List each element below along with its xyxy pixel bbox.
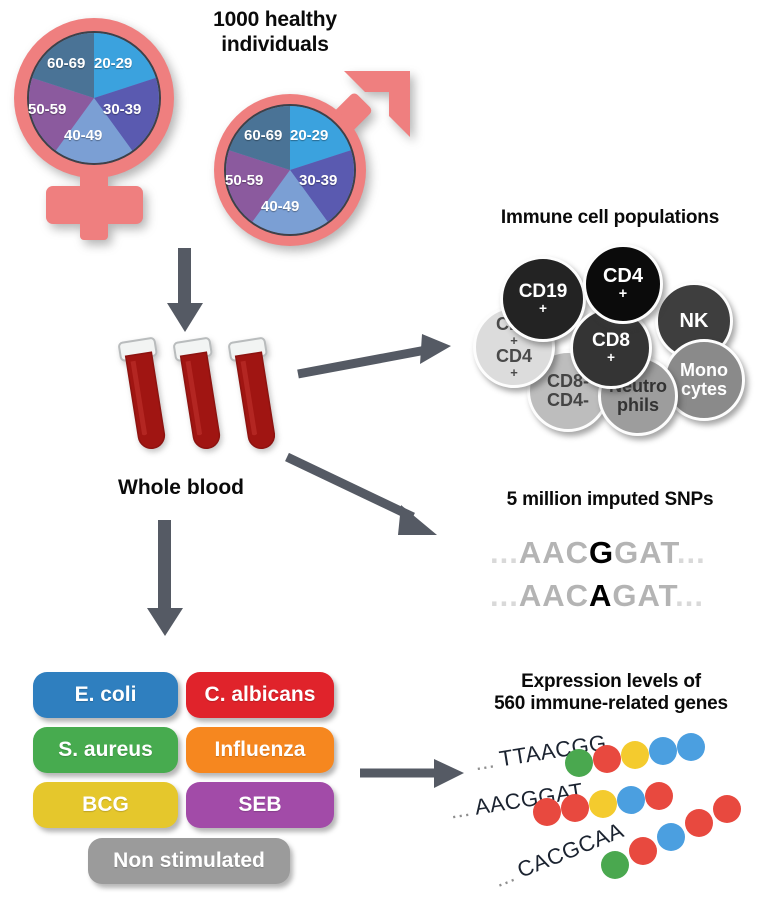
- arrow-cohort-to-blood: [160, 248, 210, 334]
- strand-1-lead: ...: [473, 747, 497, 775]
- gene-bead: [561, 794, 589, 822]
- gene-bead: [533, 798, 561, 826]
- gene-bead: [677, 733, 705, 761]
- female-age-pie: [27, 31, 161, 165]
- gene-bead: [629, 837, 657, 865]
- gene-strands: ... TTAACGG ... AACGGAT ... CACGCAA: [455, 730, 771, 905]
- immune-cell-label: NK: [680, 311, 709, 332]
- immune-cell-label: CD4-: [547, 391, 589, 410]
- immune-cell-cd19[interactable]: CD19+: [500, 256, 586, 342]
- gene-bead: [601, 851, 629, 879]
- genes-title-line1: Expression levels of: [455, 671, 767, 693]
- arrow-down-right-icon: [285, 455, 450, 540]
- immune-cell-label: phils: [617, 396, 659, 415]
- arrow-right-icon: [360, 755, 470, 795]
- genes-title: Expression levels of 560 immune-related …: [455, 671, 767, 716]
- gene-bead: [645, 782, 673, 810]
- snp-prefix-1: ...: [490, 535, 519, 570]
- gene-bead: [565, 749, 593, 777]
- snp-post-2: GAT: [612, 578, 675, 613]
- arrow-stimuli-to-genes: [360, 755, 470, 795]
- arrow-up-right-icon: [296, 330, 456, 380]
- whole-blood-label: Whole blood: [86, 476, 276, 500]
- pie-slices-male: [226, 106, 354, 234]
- arrow-down-icon-2: [140, 520, 190, 638]
- superscript: +: [519, 302, 568, 316]
- gene-bead: [713, 795, 741, 823]
- gene-strands-svg: ... TTAACGG ... AACGGAT ... CACGCAA: [455, 730, 771, 905]
- male-age-pie-svg: [226, 106, 354, 234]
- stimulus-e-coli[interactable]: E. coli: [33, 672, 178, 718]
- female-age-pie-svg: [29, 33, 159, 163]
- gene-bead: [593, 745, 621, 773]
- stimulus-influenza[interactable]: Influenza: [186, 727, 334, 773]
- genes-title-line2: 560 immune-related genes: [455, 693, 767, 715]
- stimulus-seb[interactable]: SEB: [186, 782, 334, 828]
- immune-cell-label: CD19+: [519, 282, 568, 316]
- strand-2-lead: ...: [448, 796, 472, 824]
- snp-variant-1: G: [589, 535, 614, 570]
- snp-prefix-2: ...: [490, 578, 519, 613]
- snp-variant-2: A: [589, 578, 612, 613]
- page-title: 1000 healthy individuals: [170, 8, 380, 58]
- snp-sequence-row-2: ...AACAGAT...: [490, 578, 704, 614]
- gene-bead: [649, 737, 677, 765]
- pie-slices-female: [29, 33, 159, 163]
- figure-canvas: 1000 healthy individuals 20-29 30-39 40-…: [0, 0, 771, 922]
- gene-bead: [589, 790, 617, 818]
- snp-suffix-2: ...: [675, 578, 704, 613]
- snp-suffix-1: ...: [677, 535, 706, 570]
- gene-bead: [617, 786, 645, 814]
- immune-cell-label: CD8+: [592, 331, 630, 365]
- arrow-down-icon: [160, 248, 210, 334]
- blood-tubes: [105, 335, 275, 465]
- stimulus-non-stimulated[interactable]: Non stimulated: [88, 838, 290, 884]
- snp-sequence-row-1: ...AACGGAT...: [490, 535, 706, 571]
- stimulus-s-aureus[interactable]: S. aureus: [33, 727, 178, 773]
- gene-bead: [621, 741, 649, 769]
- arrow-blood-to-snps: [285, 455, 450, 540]
- superscript: +: [603, 287, 643, 302]
- snp-pre-2: AAC: [519, 578, 589, 613]
- snps-title: 5 million imputed SNPs: [460, 489, 760, 511]
- immune-cell-label: Mono: [680, 361, 728, 380]
- male-age-pie: [224, 104, 356, 236]
- immune-populations-title: Immune cell populations: [455, 207, 765, 229]
- stimulus-bcg[interactable]: BCG: [33, 782, 178, 828]
- strand-3-lead: ...: [491, 861, 519, 892]
- female-symbol: 20-29 30-39 40-49 50-59 60-69: [8, 14, 188, 246]
- immune-cell-cd4[interactable]: CD4+: [583, 244, 663, 324]
- snp-pre-1: AAC: [519, 535, 589, 570]
- superscript: +: [496, 366, 532, 379]
- arrow-blood-to-stimuli: [140, 520, 190, 638]
- blood-tubes-icon: [105, 335, 275, 465]
- superscript: +: [592, 351, 630, 365]
- gene-bead: [657, 823, 685, 851]
- snp-post-1: GAT: [614, 535, 677, 570]
- immune-cell-label: CD4+: [603, 266, 643, 301]
- arrow-blood-to-immune: [296, 330, 456, 380]
- stimulus-c-albicans[interactable]: C. albicans: [186, 672, 334, 718]
- immune-cell-label: CD4+: [496, 347, 532, 379]
- male-symbol: 20-29 30-39 40-49 50-59 60-69: [205, 68, 420, 253]
- gene-bead: [685, 809, 713, 837]
- immune-cell-label: cytes: [681, 380, 727, 399]
